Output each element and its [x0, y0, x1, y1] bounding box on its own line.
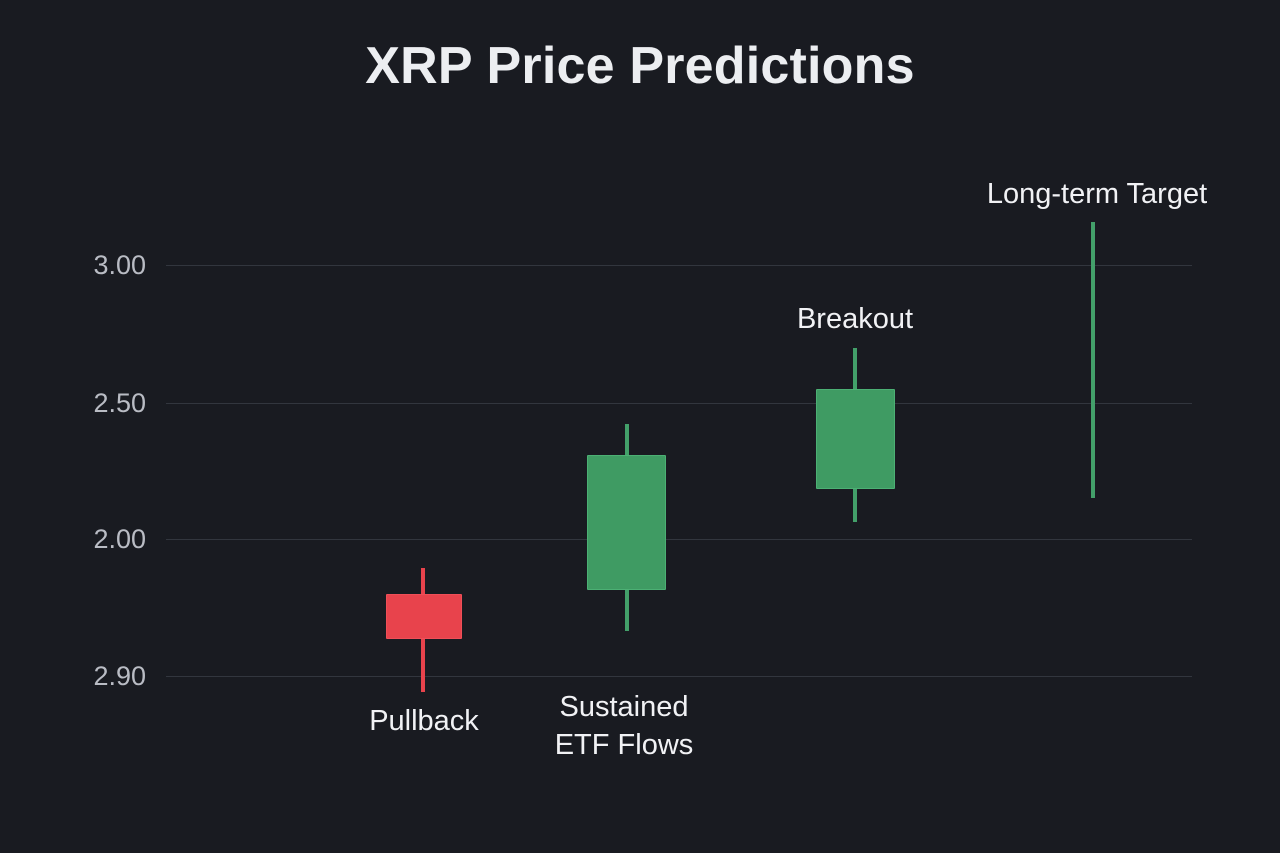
annotation-pullback: Pullback — [324, 702, 524, 740]
ytick-label-0: 3.00 — [36, 250, 146, 281]
annotation-breakout: Breakout — [755, 300, 955, 338]
annotation-long-term-target: Long-term Target — [947, 175, 1247, 213]
candle-wick-long-term-target — [1091, 222, 1095, 498]
gridline-3-00 — [166, 265, 1192, 266]
annotation-sustained-etf-flows: Sustained ETF Flows — [524, 688, 724, 765]
ytick-label-1: 2.50 — [36, 388, 146, 419]
gridline-2-90 — [166, 676, 1192, 677]
candle-body-breakout — [816, 389, 895, 489]
plot-area: 3.00 2.50 2.00 2.90 Pullback Sustained E… — [0, 0, 1280, 853]
candle-body-sustained-etf-flows — [587, 455, 666, 590]
gridline-2-00 — [166, 539, 1192, 540]
ytick-label-2: 2.00 — [36, 524, 146, 555]
candle-body-pullback — [386, 594, 462, 639]
ytick-label-3: 2.90 — [36, 661, 146, 692]
gridline-2-50 — [166, 403, 1192, 404]
candlestick-chart: XRP Price Predictions 3.00 2.50 2.00 2.9… — [0, 0, 1280, 853]
